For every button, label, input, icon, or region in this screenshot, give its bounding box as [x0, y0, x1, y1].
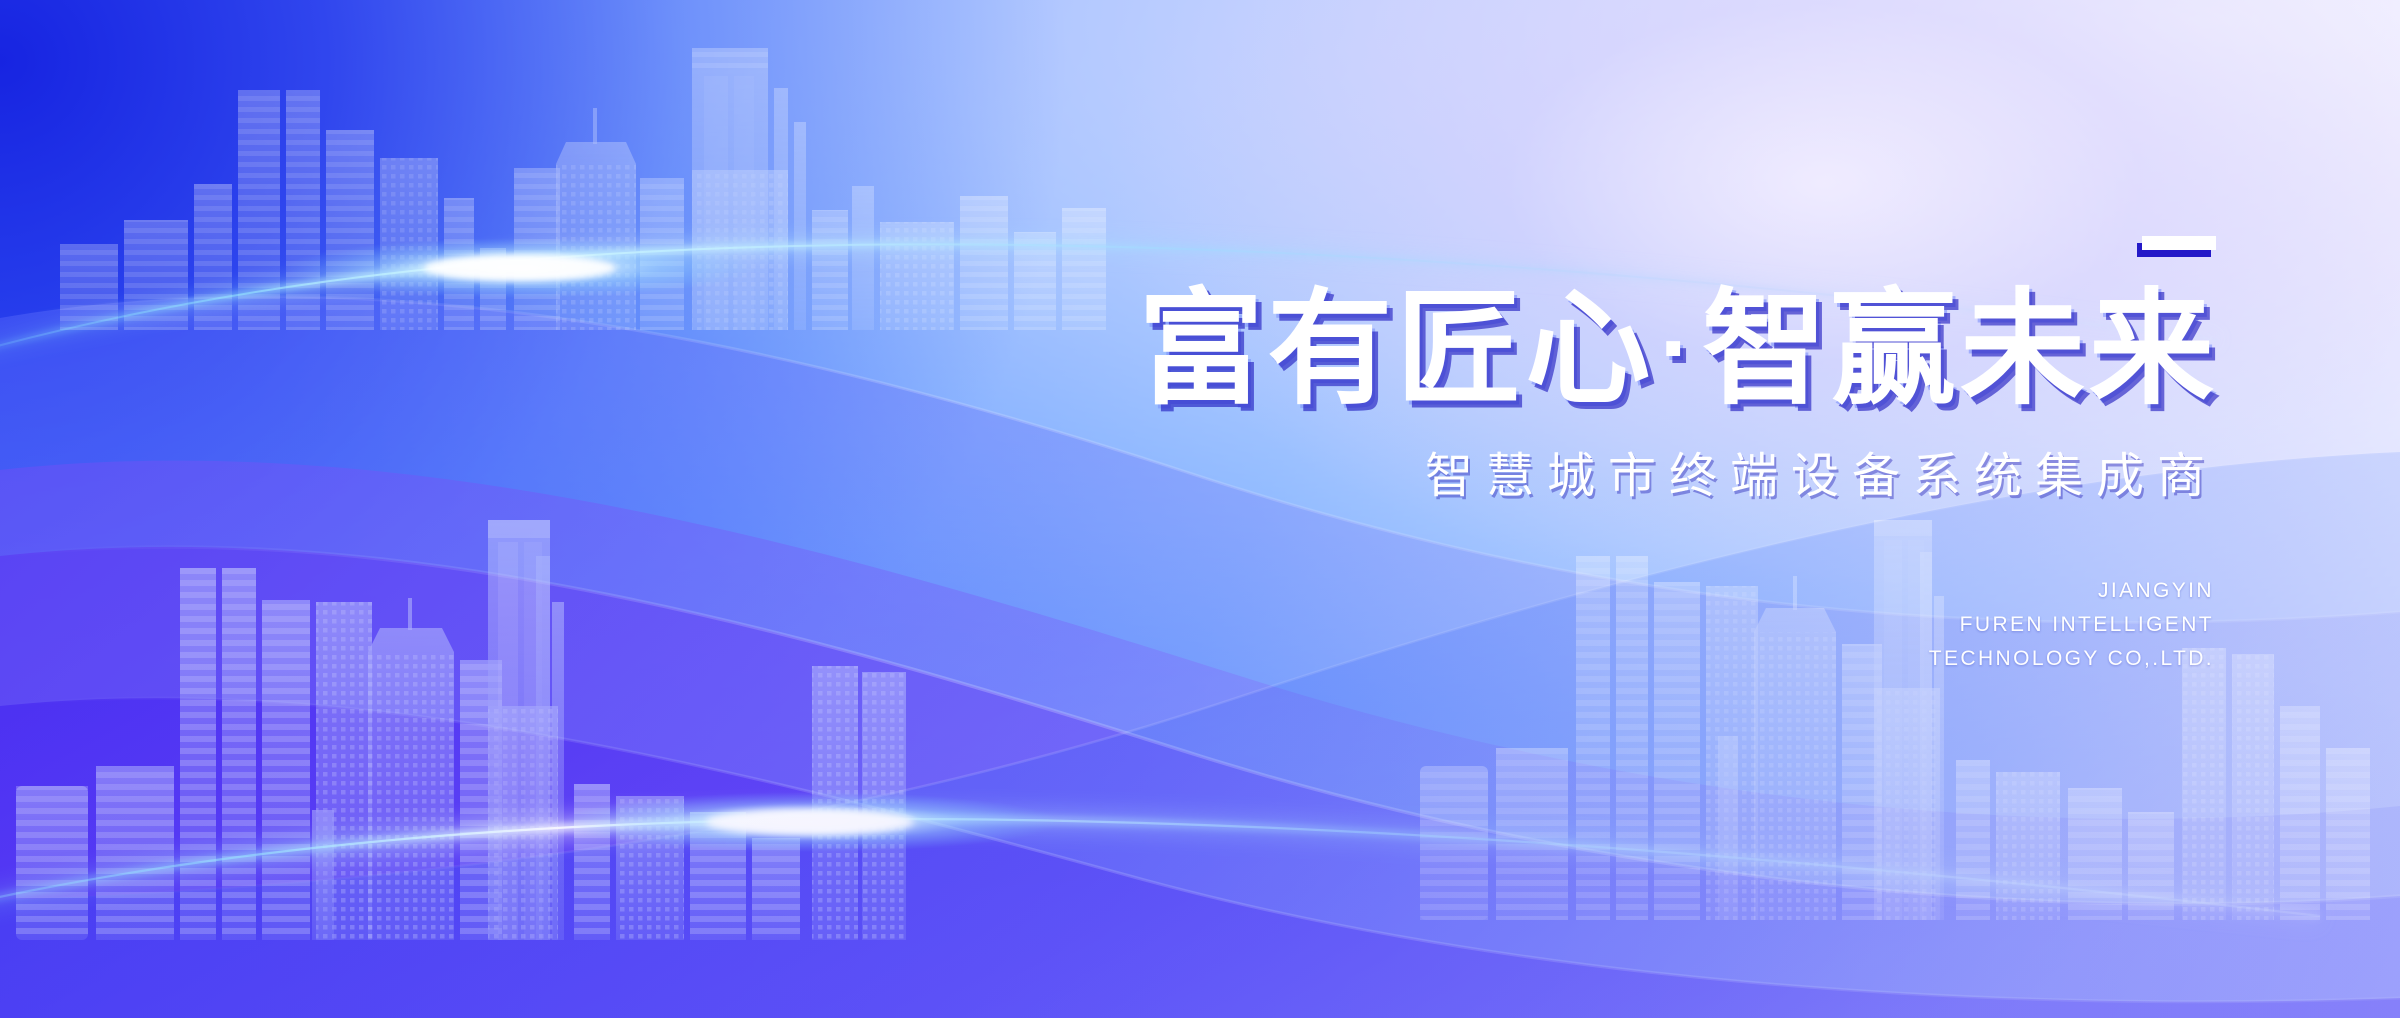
headline-separator-dot: ·	[1654, 305, 1702, 395]
horizontal-dash-icon	[2142, 236, 2216, 250]
company-name-block: JIANGYIN FUREN INTELLIGENT TECHNOLOGY CO…	[1040, 574, 2220, 676]
promo-banner: 富有匠心·智赢未来 智慧城市终端设备系统集成商 JIANGYIN FUREN I…	[0, 0, 2400, 1018]
headline-part-two: 智赢未来	[1702, 277, 2218, 422]
company-line-name: FUREN INTELLIGENT	[1040, 608, 2214, 642]
glow-arc-bottom	[0, 640, 2320, 1018]
company-line-suffix: TECHNOLOGY CO,.LTD.	[1040, 642, 2214, 676]
page-subtitle: 智慧城市终端设备系统集成商	[1040, 436, 2220, 506]
banner-text-block: 富有匠心·智赢未来 智慧城市终端设备系统集成商 JIANGYIN FUREN I…	[1040, 236, 2220, 676]
headline-part-one: 富有匠心	[1138, 277, 1654, 422]
page-title: 富有匠心·智赢未来	[1040, 286, 2220, 414]
dash-accent-row	[1040, 236, 2220, 250]
company-line-city: JIANGYIN	[1040, 574, 2214, 608]
